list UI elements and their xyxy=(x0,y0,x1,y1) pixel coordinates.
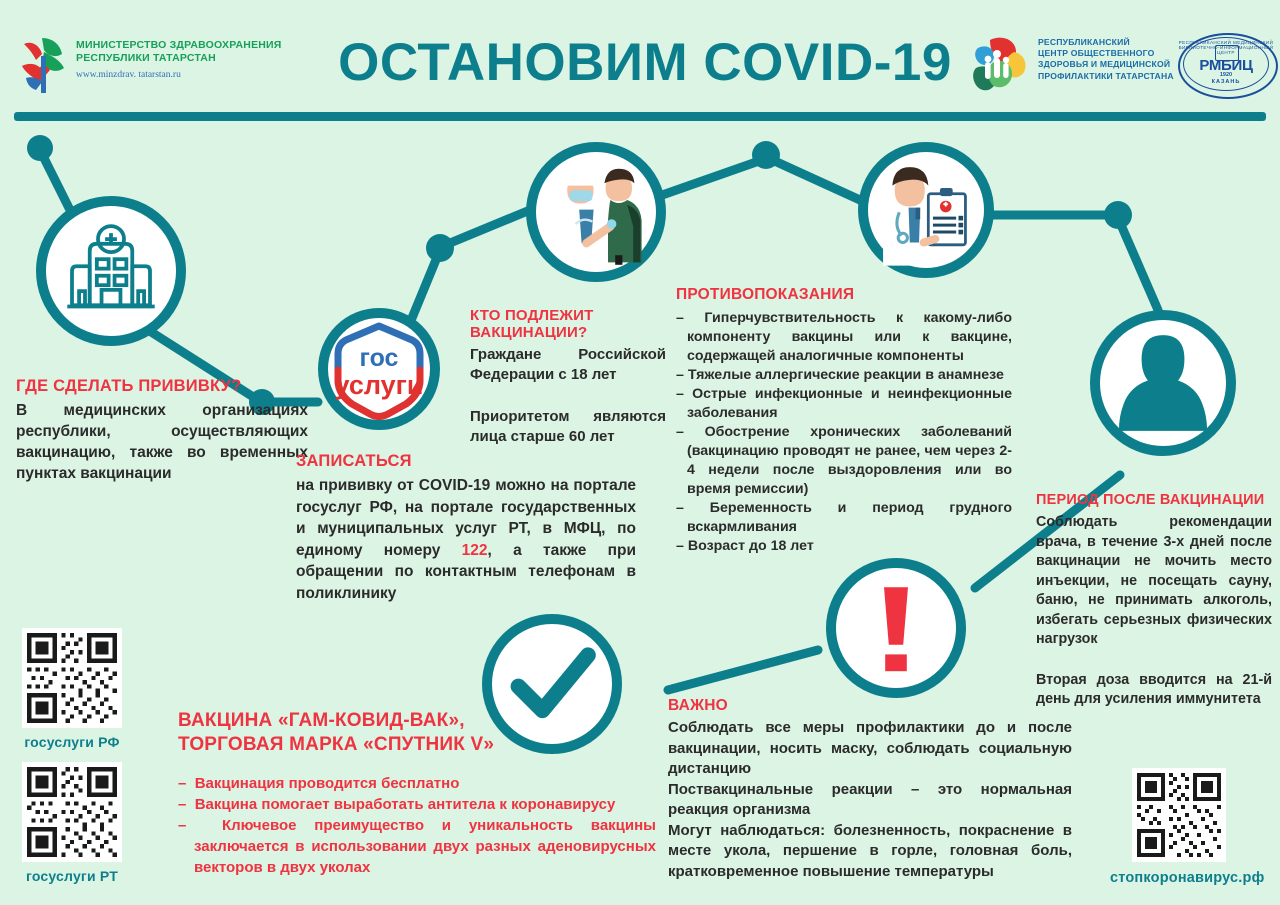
list-item: – Ключевое преимущество и уникальность в… xyxy=(178,815,656,878)
node-doctor xyxy=(858,142,994,278)
list-item: – Острые инфекционные и неинфекционные з… xyxy=(676,385,1012,423)
node-vaccination xyxy=(526,142,666,282)
node-alert xyxy=(826,558,966,698)
person-silhouette-icon xyxy=(1100,320,1226,446)
qr-gosuslugi-rt-label: госуслуги РТ xyxy=(22,868,122,884)
enroll-body: на прививку от COVID-19 можно на портале… xyxy=(296,475,636,604)
node-hospital xyxy=(36,196,186,346)
who-body: Граждане Российской Федерации с 18 лет xyxy=(470,345,666,385)
hospital-icon xyxy=(46,206,176,336)
section-important: ВАЖНО Соблюдать все меры профилактики до… xyxy=(668,697,1072,882)
list-item: – Вакцинация проводится бесплатно xyxy=(178,773,656,794)
node-person xyxy=(1090,310,1236,456)
vaccine-item-text: Ключевое преимущество и уникальность вак… xyxy=(194,817,656,876)
list-item: – Возраст до 18 лет xyxy=(676,537,1012,556)
doctor-vaccinating-patient-icon xyxy=(536,152,656,272)
list-item: – Гиперчувствительность к какому-либо ко… xyxy=(676,309,1012,366)
list-item: – Вакцина помогает выработать антитела к… xyxy=(178,794,656,815)
qr-code-image xyxy=(1137,773,1221,857)
section-who: КТО ПОДЛЕЖИТ ВАКЦИНАЦИИ? Граждане Россий… xyxy=(470,308,666,447)
doctor-with-clipboard-icon xyxy=(868,152,984,268)
contraindications-list: – Гиперчувствительность к какому-либо ко… xyxy=(676,309,1012,556)
enroll-phone: 122 xyxy=(462,542,488,559)
who-heading-line1: КТО ПОДЛЕЖИТ xyxy=(470,308,666,325)
vaccine-heading-line2: ТОРГОВАЯ МАРКА «СПУТНИК V» xyxy=(178,733,656,757)
qr-code-image xyxy=(27,767,117,857)
qr-stopkoronavirus-block[interactable]: стопкоронавирус.рф xyxy=(1128,768,1250,886)
qr-stopkoronavirus[interactable] xyxy=(1132,768,1226,862)
poster-root: МИНИСТЕРСТВО ЗДРАВООХРАНЕНИЯ РЕСПУБЛИКИ … xyxy=(0,0,1280,905)
vaccine-item-text: Вакцинация проводится бесплатно xyxy=(195,775,460,792)
who-heading-line2: ВАКЦИНАЦИИ? xyxy=(470,325,666,342)
qr-stopkoronavirus-label: стопкоронавирус.рф xyxy=(1110,870,1250,886)
after-body: Соблюдать рекомендации врача, в течение … xyxy=(1036,513,1272,650)
svg-text:услуги: услуги xyxy=(334,370,423,400)
contraindications-heading: ПРОТИВОПОКАЗАНИЯ xyxy=(676,286,1012,303)
gosuslugi-logo: гос услуги xyxy=(328,318,430,420)
section-contraindications: ПРОТИВОПОКАЗАНИЯ – Гиперчувствительность… xyxy=(676,286,1012,556)
where-heading: ГДЕ СДЕЛАТЬ ПРИВИВКУ? xyxy=(16,377,308,395)
section-where-vaccinate: ГДЕ СДЕЛАТЬ ПРИВИВКУ? В медицинских орга… xyxy=(16,377,308,484)
important-heading: ВАЖНО xyxy=(668,697,1072,714)
qr-gosuslugi-rt[interactable] xyxy=(22,762,122,862)
contraindication-text: Гиперчувствительность к какому-либо комп… xyxy=(687,310,1012,364)
contraindication-text: Обострение хронических заболеваний (вакц… xyxy=(687,424,1012,497)
qr-gosuslugi-rf[interactable] xyxy=(22,628,122,728)
important-paragraph: Могут наблюдаться: болезненность, покрас… xyxy=(668,821,1072,883)
contraindication-text: Беременность и период грудного вскармлив… xyxy=(687,500,1012,535)
qr-gosuslugi-rf-block[interactable]: госуслуги РФ xyxy=(22,628,122,750)
list-item: – Тяжелые аллергические реакции в анамне… xyxy=(676,366,1012,385)
contraindication-text: Острые инфекционные и неинфекционные заб… xyxy=(687,386,1012,421)
qr-gosuslugi-rf-label: госуслуги РФ xyxy=(22,734,122,750)
enroll-heading: ЗАПИСАТЬСЯ xyxy=(296,452,636,470)
vaccine-list: – Вакцинация проводится бесплатно – Вакц… xyxy=(178,773,656,878)
qr-code-image xyxy=(27,633,117,723)
section-vaccine: ВАКЦИНА «ГАМ-КОВИД-ВАК», ТОРГОВАЯ МАРКА … xyxy=(178,709,656,878)
contraindication-text: Тяжелые аллергические реакции в анамнезе xyxy=(688,367,1004,383)
after-heading: ПЕРИОД ПОСЛЕ ВАКЦИНАЦИИ xyxy=(1036,492,1272,508)
section-after-vaccination: ПЕРИОД ПОСЛЕ ВАКЦИНАЦИИ Соблюдать рекоме… xyxy=(1036,492,1272,710)
exclamation-mark-icon xyxy=(836,568,956,688)
where-body: В медицинских организациях республики, о… xyxy=(16,400,308,484)
who-body2: Приоритетом являются лица старше 60 лет xyxy=(470,407,666,447)
section-enroll: ЗАПИСАТЬСЯ на прививку от COVID-19 можно… xyxy=(296,452,636,604)
vaccine-item-text: Вакцина помогает выработать антитела к к… xyxy=(195,796,616,813)
list-item: – Беременность и период грудного вскармл… xyxy=(676,499,1012,537)
important-paragraph: Поствакцинальные реакции – это нормальна… xyxy=(668,780,1072,821)
node-gosuslugi[interactable]: гос услуги xyxy=(318,308,440,430)
vaccine-heading-line1: ВАКЦИНА «ГАМ-КОВИД-ВАК», xyxy=(178,709,656,733)
list-item: – Обострение хронических заболеваний (ва… xyxy=(676,423,1012,499)
important-paragraph: Соблюдать все меры профилактики до и пос… xyxy=(668,718,1072,780)
contraindication-text: Возраст до 18 лет xyxy=(688,538,814,554)
qr-gosuslugi-rt-block[interactable]: госуслуги РТ xyxy=(22,762,122,884)
svg-text:гос: гос xyxy=(360,344,399,372)
